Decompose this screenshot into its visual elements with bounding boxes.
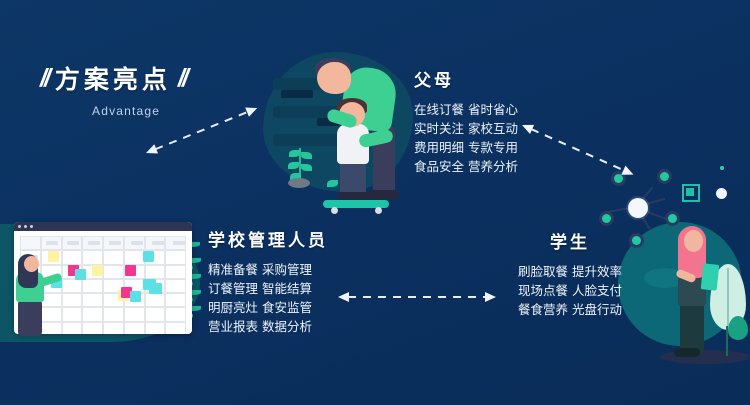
title-row: // 方案亮点 // — [40, 60, 270, 96]
square-badge-icon — [682, 184, 700, 202]
small-leaf-plant — [728, 316, 748, 340]
slash-right-decor: // — [178, 66, 186, 91]
school-illustration — [0, 218, 208, 346]
network-node — [614, 174, 623, 183]
school-feature-list: 精准备餐 采购管理 订餐管理 智能结算 明厨亮灶 食安监管 营业报表 数据分析 — [208, 260, 328, 336]
header-placeholder — [67, 241, 79, 245]
sticky-note[interactable] — [48, 251, 59, 262]
sticky-note[interactable] — [125, 265, 136, 276]
parent-feature-item: 费用明细 专款专用 — [414, 138, 518, 157]
student-feature-item: 刷脸取餐 提升效率 — [510, 262, 630, 281]
skateboard-wheel — [375, 207, 382, 214]
window-dot-icon — [30, 225, 33, 228]
plant-leaf-icon — [301, 152, 312, 159]
network-node — [602, 214, 611, 223]
poster-canvas: // 方案亮点 // Advantage — [0, 0, 750, 405]
school-feature-item: 明厨亮灶 食安监管 — [208, 298, 328, 317]
student-heading: 学生 — [510, 228, 630, 253]
admin-legs — [18, 300, 42, 336]
school-feature-item: 订餐管理 智能结算 — [208, 279, 328, 298]
skateboard-wheel — [331, 207, 338, 214]
header-placeholder — [88, 241, 100, 245]
header-placeholder — [46, 241, 58, 245]
school-feature-item: 营业报表 数据分析 — [208, 317, 328, 336]
header-placeholder — [131, 241, 143, 245]
connector-school-to-student — [338, 296, 496, 298]
shelf-tag-1 — [281, 90, 313, 98]
arrow-dashes — [531, 128, 625, 171]
student-book — [701, 263, 720, 291]
page-title-block: // 方案亮点 // Advantage — [40, 60, 270, 118]
circle-dot-icon — [716, 188, 727, 199]
sticky-note[interactable] — [143, 251, 154, 262]
plant-leaf-icon — [288, 162, 299, 169]
sticky-note[interactable] — [92, 265, 103, 276]
plant-leaf-icon — [301, 164, 312, 171]
school-text-group: 学校管理人员 精准备餐 采购管理 订餐管理 智能结算 明厨亮灶 食安监管 营业报… — [208, 226, 328, 336]
arrow-head-left-icon — [144, 144, 158, 157]
calendar-row — [20, 307, 186, 321]
student-feature-item: 现场点餐 人脸支付 — [510, 281, 630, 300]
parent-feature-item: 在线订餐 省时省心 — [414, 100, 518, 119]
school-feature-item: 精准备餐 采购管理 — [208, 260, 328, 279]
admin-head — [24, 256, 39, 272]
arrow-head-right-icon — [485, 292, 496, 302]
student-feature-item: 餐食营养 光盘行动 — [510, 300, 630, 319]
student-feature-list: 刷脸取餐 提升效率 现场点餐 人脸支付 餐食营养 光盘行动 — [510, 262, 630, 319]
child-legs — [340, 160, 366, 196]
student-text-group: 学生 刷脸取餐 提升效率 现场点餐 人脸支付 餐食营养 光盘行动 — [510, 228, 630, 319]
window-dot-icon — [24, 225, 27, 228]
slash-left-decor: // — [40, 66, 48, 91]
network-node — [668, 214, 677, 223]
adult-head — [317, 62, 351, 94]
adult-shoe — [367, 190, 399, 200]
sticky-note[interactable] — [130, 291, 141, 302]
window-dot-icon — [18, 225, 21, 228]
sparkle-dot-icon — [720, 166, 724, 170]
network-node — [660, 172, 669, 181]
sticky-note[interactable] — [149, 283, 162, 294]
header-placeholder — [173, 241, 185, 245]
arrow-head-left-icon — [520, 120, 534, 134]
calendar-row — [20, 293, 186, 307]
page-title: 方案亮点 — [55, 60, 171, 96]
sticky-note[interactable] — [75, 269, 86, 280]
parent-illustration — [255, 40, 425, 210]
student-shoe — [674, 348, 700, 357]
parent-heading: 父母 — [414, 66, 518, 91]
student-legs — [680, 302, 704, 354]
parent-feature-item: 实时关注 家校互动 — [414, 119, 518, 138]
connector-parent-to-student — [522, 124, 634, 175]
network-node — [632, 236, 641, 245]
header-placeholder — [152, 241, 164, 245]
school-heading: 学校管理人员 — [208, 226, 328, 251]
parent-text-group: 父母 在线订餐 省时省心 实时关注 家校互动 费用明细 专款专用 食品安全 营养… — [414, 66, 518, 176]
parent-feature-list: 在线订餐 省时省心 实时关注 家校互动 费用明细 专款专用 食品安全 营养分析 — [414, 100, 518, 176]
student-head — [684, 230, 703, 252]
window-titlebar — [14, 222, 192, 231]
calendar-row — [20, 322, 186, 334]
parent-feature-item: 食品安全 营养分析 — [414, 157, 518, 176]
network-hub-icon — [628, 198, 648, 218]
arrow-dashes — [348, 296, 486, 298]
plant-leaf-icon — [289, 150, 300, 157]
calendar-row — [20, 250, 186, 264]
page-subtitle: Advantage — [92, 104, 270, 118]
plant-rock — [288, 178, 310, 188]
plant-leaf-icon — [327, 180, 338, 187]
header-placeholder — [109, 241, 121, 245]
